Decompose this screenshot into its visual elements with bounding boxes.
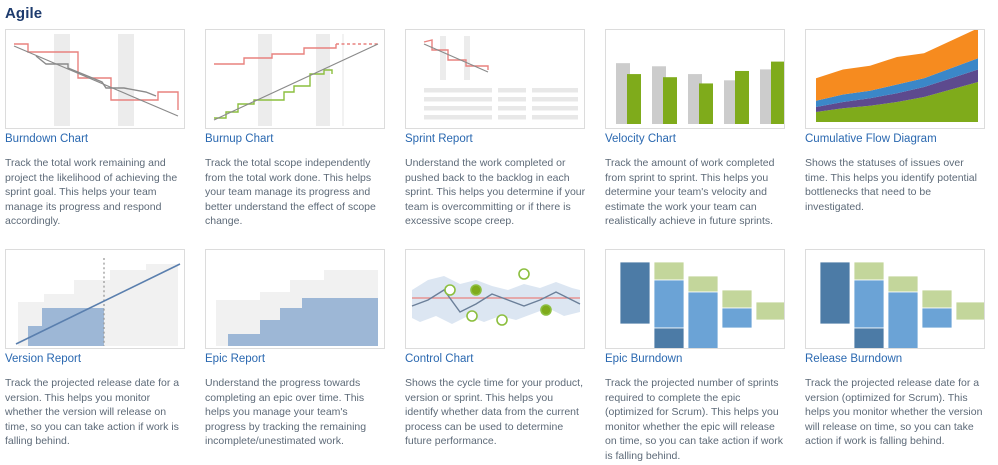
thumbnail-version-report[interactable] xyxy=(5,249,185,349)
report-card-grid: Burndown ChartTrack the total work remai… xyxy=(0,29,998,464)
report-link-burnup-chart[interactable]: Burnup Chart xyxy=(205,133,273,145)
thumbnail-control-chart[interactable] xyxy=(405,249,585,349)
page-title: Agile xyxy=(5,5,998,23)
thumbnail-velocity-chart[interactable] xyxy=(605,29,785,129)
report-description-epic-report: Understand the progress towards completi… xyxy=(205,376,388,449)
report-description-sprint-report: Understand the work completed or pushed … xyxy=(405,156,588,229)
report-link-epic-report[interactable]: Epic Report xyxy=(205,353,265,365)
thumbnail-epic-report[interactable] xyxy=(205,249,385,349)
thumbnail-release-burndown[interactable] xyxy=(805,249,985,349)
report-description-epic-burndown: Track the projected number of sprints re… xyxy=(605,376,788,463)
report-link-burndown-chart[interactable]: Burndown Chart xyxy=(5,133,88,145)
thumbnail-burndown-chart[interactable] xyxy=(5,29,185,129)
report-card-version-report[interactable]: Version ReportTrack the projected releas… xyxy=(5,249,199,464)
report-link-cumulative-flow-diagram[interactable]: Cumulative Flow Diagram xyxy=(805,133,937,145)
report-link-release-burndown[interactable]: Release Burndown xyxy=(805,353,902,365)
report-description-velocity-chart: Track the amount of work completed from … xyxy=(605,156,788,229)
report-link-sprint-report[interactable]: Sprint Report xyxy=(405,133,473,145)
thumbnail-cumulative-flow-diagram[interactable] xyxy=(805,29,985,129)
report-description-control-chart: Shows the cycle time for your product, v… xyxy=(405,376,588,449)
report-description-burndown-chart: Track the total work remaining and proje… xyxy=(5,156,188,229)
report-card-sprint-report[interactable]: Sprint ReportUnderstand the work complet… xyxy=(405,29,599,244)
report-card-release-burndown[interactable]: Release BurndownTrack the projected rele… xyxy=(805,249,998,464)
report-card-velocity-chart[interactable]: Velocity ChartTrack the amount of work c… xyxy=(605,29,799,244)
report-card-burnup-chart[interactable]: Burnup ChartTrack the total scope indepe… xyxy=(205,29,399,244)
report-description-release-burndown: Track the projected release date for a v… xyxy=(805,376,988,449)
thumbnail-sprint-report[interactable] xyxy=(405,29,585,129)
report-link-version-report[interactable]: Version Report xyxy=(5,353,81,365)
report-card-epic-burndown[interactable]: Epic BurndownTrack the projected number … xyxy=(605,249,799,464)
report-description-cumulative-flow-diagram: Shows the statuses of issues over time. … xyxy=(805,156,988,214)
report-card-control-chart[interactable]: Control ChartShows the cycle time for yo… xyxy=(405,249,599,464)
report-link-velocity-chart[interactable]: Velocity Chart xyxy=(605,133,676,145)
thumbnail-epic-burndown[interactable] xyxy=(605,249,785,349)
report-link-epic-burndown[interactable]: Epic Burndown xyxy=(605,353,682,365)
report-description-version-report: Track the projected release date for a v… xyxy=(5,376,188,449)
report-card-cumulative-flow-diagram[interactable]: Cumulative Flow DiagramShows the statuse… xyxy=(805,29,998,244)
report-link-control-chart[interactable]: Control Chart xyxy=(405,353,473,365)
report-description-burnup-chart: Track the total scope independently from… xyxy=(205,156,388,229)
report-card-burndown-chart[interactable]: Burndown ChartTrack the total work remai… xyxy=(5,29,199,244)
thumbnail-burnup-chart[interactable] xyxy=(205,29,385,129)
agile-reports-page: Agile Burndown ChartTrack the total work… xyxy=(0,5,998,465)
report-card-epic-report[interactable]: Epic ReportUnderstand the progress towar… xyxy=(205,249,399,464)
